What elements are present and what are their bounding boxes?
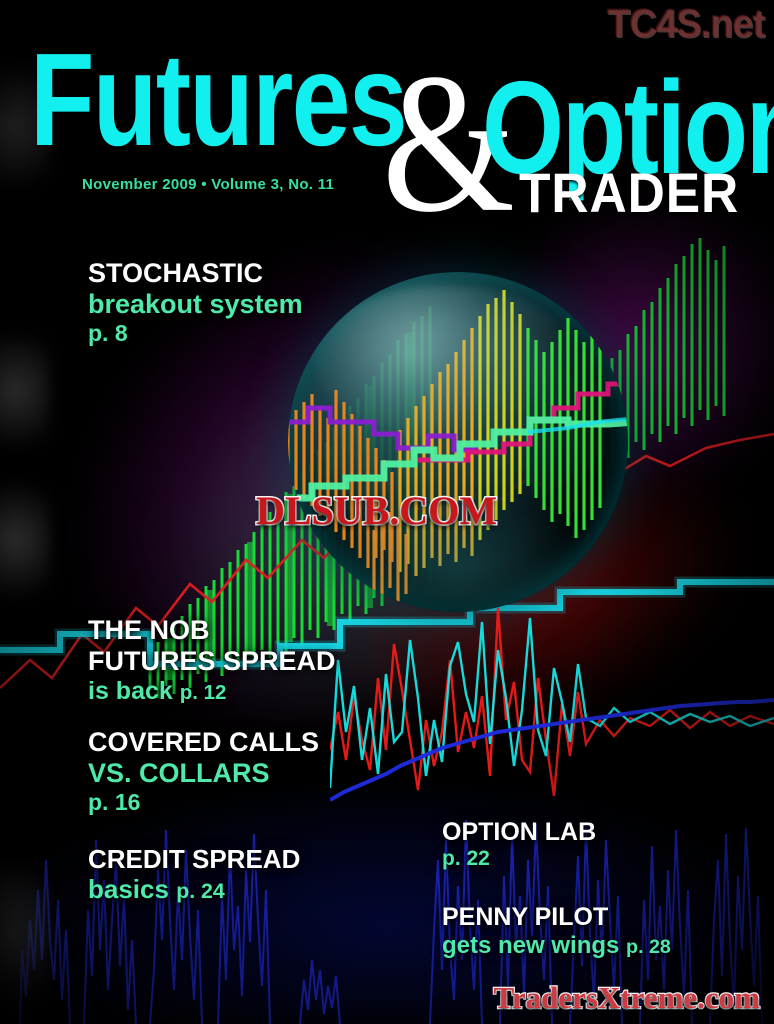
cover-line-stochastic-page: p. 8 [88, 320, 303, 346]
cover-line-penny-title: PENNY PILOT [442, 903, 671, 932]
cover-line-credit-page: p. 24 [176, 879, 225, 903]
masthead-trader: TRADER [519, 165, 739, 221]
cover-line-credit-sub-text: basics [88, 874, 169, 904]
watermark-dlsub: DLSUB.COM [256, 487, 497, 534]
cover-line-covered-page: p. 16 [88, 789, 319, 815]
cover-line-penny-page: p. 28 [626, 936, 671, 958]
cover-line-nob-sub-text: is back [88, 677, 173, 705]
watermark-tradersxtreme: TradersXtreme.com [493, 980, 760, 1016]
cover-line-credit-spread[interactable]: CREDIT SPREAD basics p. 24 [88, 845, 300, 904]
issue-date-line: November 2009 • Volume 3, No. 11 [82, 176, 334, 193]
cover-line-stochastic-sub: breakout system [88, 289, 303, 320]
cover-line-penny-sub: gets new wings p. 28 [442, 932, 671, 959]
cover-line-covered-title2: VS. COLLARS [88, 758, 319, 789]
masthead-futures: Futures [30, 34, 406, 166]
watermark-tc4s: TC4S.net [607, 2, 764, 47]
cover-line-credit-title: CREDIT SPREAD [88, 845, 300, 875]
cover-line-nob-title2: FUTURES SPREAD [88, 646, 336, 677]
cover-line-nob-sub: is back p. 12 [88, 677, 336, 706]
cover-line-covered-calls[interactable]: COVERED CALLS VS. COLLARS p. 16 [88, 727, 319, 815]
cover-line-nob-page: p. 12 [180, 681, 227, 704]
cover-line-penny-pilot[interactable]: PENNY PILOT gets new wings p. 28 [442, 903, 671, 959]
cover-line-nob-title1: THE NOB [88, 615, 336, 646]
cover-line-stochastic[interactable]: STOCHASTIC breakout system p. 8 [88, 258, 303, 346]
cover-line-penny-sub-text: gets new wings [442, 932, 619, 959]
cover-line-credit-sub: basics p. 24 [88, 875, 300, 905]
cover-line-option-lab-title: OPTION LAB [442, 818, 596, 847]
cover-line-option-lab-page: p. 22 [442, 847, 596, 871]
cover-line-nob-futures-spread[interactable]: THE NOB FUTURES SPREAD is back p. 12 [88, 615, 336, 705]
magazine-cover: Futures & Options TRADER November 2009 •… [0, 0, 774, 1024]
cover-line-option-lab[interactable]: OPTION LAB p. 22 [442, 818, 596, 870]
cover-line-stochastic-title: STOCHASTIC [88, 258, 303, 289]
cover-line-covered-title1: COVERED CALLS [88, 727, 319, 758]
